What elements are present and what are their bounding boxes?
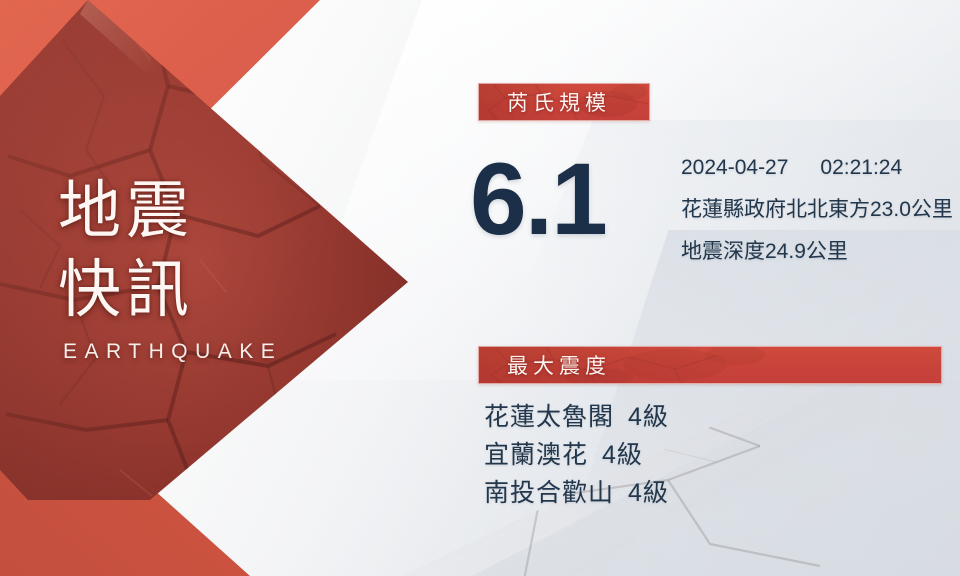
detail-depth: 地震深度24.9公里 <box>681 231 953 273</box>
earthquake-details: 2024-04-2702:21:24 花蓮縣政府北北東方23.0公里 地震深度2… <box>681 147 953 273</box>
intensity-level: 4級 <box>628 479 669 507</box>
intensity-label-bar: 最大震度 <box>478 346 942 384</box>
intensity-location: 花蓮太魯閣 <box>484 403 614 431</box>
intensity-location: 南投合歡山 <box>484 479 614 507</box>
title-subtitle-english: EARTHQUAKE <box>63 340 358 364</box>
detail-time: 02:21:24 <box>820 156 902 179</box>
intensity-list: 花蓮太魯閣4級 宜蘭澳花4級 南投合歡山4級 <box>484 398 669 512</box>
intensity-level: 4級 <box>628 403 669 431</box>
intensity-row: 花蓮太魯閣4級 <box>484 398 669 436</box>
title-line-2: 快訊 <box>58 251 358 330</box>
intensity-level: 4級 <box>602 441 643 469</box>
program-title: 地震 快訊 EARTHQUAKE <box>58 172 358 364</box>
intensity-location: 宜蘭澳花 <box>484 441 588 469</box>
intensity-label-text: 最大震度 <box>507 350 611 380</box>
intensity-row: 宜蘭澳花4級 <box>484 436 669 474</box>
detail-date: 2024-04-27 <box>681 156 788 179</box>
magnitude-label-text: 芮氏規模 <box>507 87 611 117</box>
intensity-row: 南投合歡山4級 <box>484 474 669 512</box>
earthquake-alert-graphic: 地震 快訊 EARTHQUAKE 芮氏規模 6.1 20 <box>0 0 960 576</box>
detail-epicenter: 花蓮縣政府北北東方23.0公里 <box>681 189 953 231</box>
magnitude-label-bar: 芮氏規模 <box>478 83 650 121</box>
magnitude-value: 6.1 <box>470 148 606 250</box>
title-line-1: 地震 <box>58 172 358 251</box>
detail-datetime: 2024-04-2702:21:24 <box>681 147 953 189</box>
